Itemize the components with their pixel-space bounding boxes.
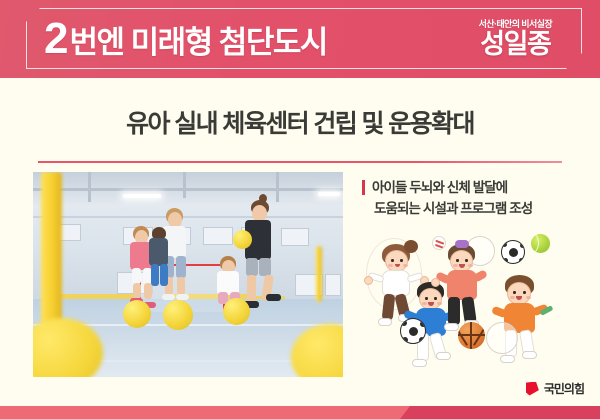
title-divider [38, 161, 562, 163]
party-logo-mark-icon [526, 382, 539, 396]
party-name: 국민의힘 [544, 380, 584, 397]
ballot-number: 2 [44, 19, 67, 59]
footer-bar [0, 406, 600, 419]
candidate-block: 서산·태안의 비서실장 성일종 [479, 20, 574, 58]
soccer-ball-secondary-icon [501, 240, 525, 264]
campaign-poster: 2 번엔 미래형 첨단도시 서산·태안의 비서실장 성일종 유아 실내 체육센터… [0, 0, 600, 419]
slogan-text: 번엔 미래형 첨단도시 [69, 27, 326, 58]
bullet-marker-icon [362, 180, 365, 195]
baseball-icon [430, 234, 448, 252]
bullet-line-1: 아이들 두뇌와 신체 발달에 [372, 180, 507, 195]
soccer-ball-icon [400, 318, 426, 344]
tennis-ball-icon [531, 234, 550, 253]
party-logo: 국민의힘 [526, 380, 584, 397]
campaign-slogan: 2 번엔 미래형 첨단도시 [44, 19, 327, 59]
footer-bar-right [400, 406, 600, 419]
basketball-icon [458, 322, 485, 349]
page-title: 유아 실내 체육센터 건립 및 운용확대 [0, 104, 600, 140]
gym-photo [33, 172, 343, 377]
footer-bar-left [0, 406, 410, 419]
sports-kids-illustration [360, 232, 595, 380]
poster-header: 2 번엔 미래형 첨단도시 서산·태안의 비서실장 성일종 [0, 0, 600, 78]
candidate-name: 성일종 [479, 31, 552, 58]
bullet-line-2: 도움되는 시설과 프로그램 조성 [372, 199, 532, 220]
bullet-text: 아이들 두뇌와 신체 발달에 도움되는 시설과 프로그램 조성 [372, 178, 532, 220]
bullet-point: 아이들 두뇌와 신체 발달에 도움되는 시설과 프로그램 조성 [362, 178, 588, 220]
